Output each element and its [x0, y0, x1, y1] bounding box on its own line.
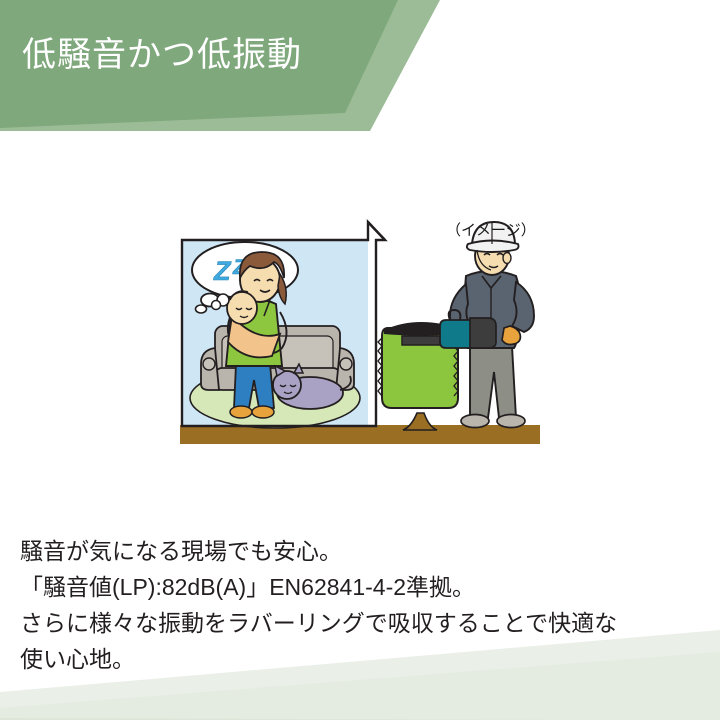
illustration-caption: （イメージ） [446, 219, 536, 240]
wall-roof-peak [368, 222, 385, 240]
body-line-3: さらに様々な振動をラバーリングで吸収することで快適な [20, 605, 710, 641]
body-line-4: 使い心地。 [20, 641, 710, 677]
page-title: 低騒音かつ低振動 [22, 38, 302, 72]
ground-strip [180, 425, 540, 444]
body-copy: 騒音が気になる現場でも安心。 「騒音値(LP):82dB(A)」EN62841-… [20, 533, 710, 677]
slide-canvas: 低騒音かつ低振動 [0, 0, 720, 720]
body-line-2: 「騒音値(LP):82dB(A)」EN62841-4-2準拠。 [20, 569, 710, 605]
zzz-text: Z [213, 256, 232, 286]
illustration-artwork: Z Z z [170, 208, 560, 458]
illustration: Z Z z [170, 208, 560, 458]
header-banner: 低騒音かつ低振動 [0, 0, 720, 150]
header-banner-shape [0, 0, 720, 150]
body-line-1: 騒音が気になる現場でも安心。 [20, 533, 710, 569]
